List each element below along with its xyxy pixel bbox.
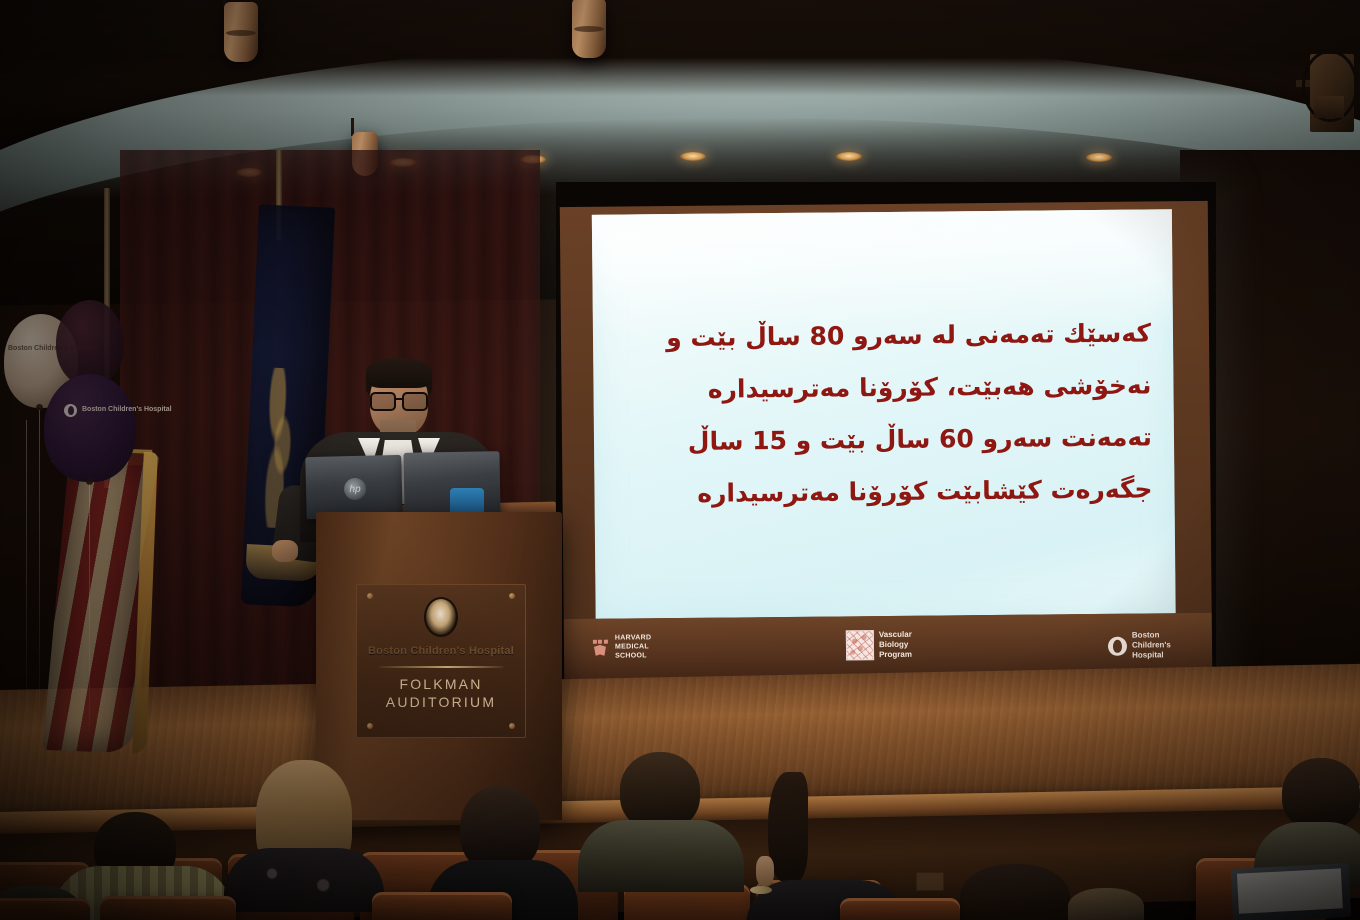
auditorium-photo: كەسێك تەمەنى لە سەرو 80 ساڵ بێت و نەخۆشى… bbox=[0, 0, 1360, 920]
theater-seat bbox=[840, 898, 960, 920]
audience-head bbox=[1282, 758, 1360, 830]
balloon-string bbox=[26, 420, 27, 700]
slide-line-2: نەخۆشى هەبێت، كۆرۆنا مەترسیداره bbox=[611, 372, 1151, 403]
bch-emblem-icon bbox=[64, 404, 77, 417]
av-lighting-rig-icon bbox=[1296, 36, 1360, 144]
ceiling-dark-mask bbox=[0, 0, 1360, 96]
presentation-slide: كەسێك تەمەنى لە سەرو 80 ساڵ بێت و نەخۆشى… bbox=[560, 201, 1213, 679]
vessel-network-icon bbox=[846, 630, 874, 660]
wristband bbox=[750, 886, 772, 894]
can-light-icon bbox=[836, 152, 862, 161]
plaque-screw bbox=[367, 593, 373, 599]
podium-plaque: Boston Children's Hospital FOLKMAN AUDIT… bbox=[356, 584, 526, 738]
slide-text-block: كەسێك تەمەنى لە سەرو 80 ساڵ بێت و نەخۆشى… bbox=[592, 209, 1176, 619]
plaque-room-line-1: FOLKMAN bbox=[399, 676, 482, 692]
plaque-screw bbox=[367, 723, 373, 729]
can-light-icon bbox=[680, 152, 706, 161]
audience-shoulders bbox=[224, 848, 384, 912]
vascular-biology-program-logo: Vascular Biology Program bbox=[846, 630, 912, 661]
audience-laptop bbox=[1231, 863, 1352, 920]
harvard-shield-icon bbox=[590, 638, 610, 658]
wall-outlet-icon bbox=[916, 872, 944, 891]
boston-childrens-hospital-logo: Boston Children's Hospital bbox=[1108, 630, 1171, 661]
audience-hair-dark-strand bbox=[768, 772, 808, 882]
plaque-organization: Boston Children's Hospital bbox=[368, 645, 514, 657]
plaque-screw bbox=[509, 593, 515, 599]
hospital-seal-icon bbox=[424, 597, 458, 637]
balloon-string bbox=[89, 484, 90, 734]
laptop-screen-left bbox=[305, 455, 402, 519]
theater-seat bbox=[100, 896, 236, 920]
plaque-room-line-2: AUDITORIUM bbox=[386, 694, 496, 710]
balloon-string bbox=[39, 410, 40, 710]
speaker-hair-top bbox=[366, 358, 432, 388]
theater-seat bbox=[372, 892, 512, 920]
audience-head bbox=[620, 752, 700, 830]
bch-logo-text: Boston Children's Hospital bbox=[1132, 630, 1171, 660]
audience-head bbox=[1068, 888, 1144, 920]
balloon-label: Boston Children's Hospital bbox=[82, 406, 172, 414]
can-light-icon bbox=[1086, 153, 1112, 162]
plaque-screw bbox=[509, 723, 515, 729]
bch-emblem-icon bbox=[1108, 636, 1127, 655]
slide-line-4: جگەرەت كێشابێت كۆرۆنا مەترسیداره bbox=[612, 477, 1152, 508]
slide-line-3: تەمەنت سەرو 60 ساڵ بێت و 15 ساڵ bbox=[612, 424, 1152, 455]
harvard-medical-school-logo: HARVARD MEDICAL SCHOOL bbox=[590, 634, 652, 661]
speaker-hand bbox=[272, 540, 298, 562]
audience-shoulders bbox=[578, 820, 744, 892]
slide-line-1: كەسێك تەمەنى لە سەرو 80 ساڵ بێت و bbox=[611, 320, 1151, 351]
harvard-logo-text: HARVARD MEDICAL SCHOOL bbox=[615, 634, 652, 661]
hp-logo-icon bbox=[344, 478, 367, 501]
theater-seat bbox=[0, 898, 90, 920]
balloon bbox=[44, 374, 136, 482]
audience-head bbox=[960, 864, 1070, 920]
plaque-divider bbox=[379, 666, 503, 668]
eyeglasses-icon bbox=[370, 392, 428, 408]
vbp-logo-text: Vascular Biology Program bbox=[879, 630, 912, 660]
audience-hand bbox=[756, 856, 774, 886]
